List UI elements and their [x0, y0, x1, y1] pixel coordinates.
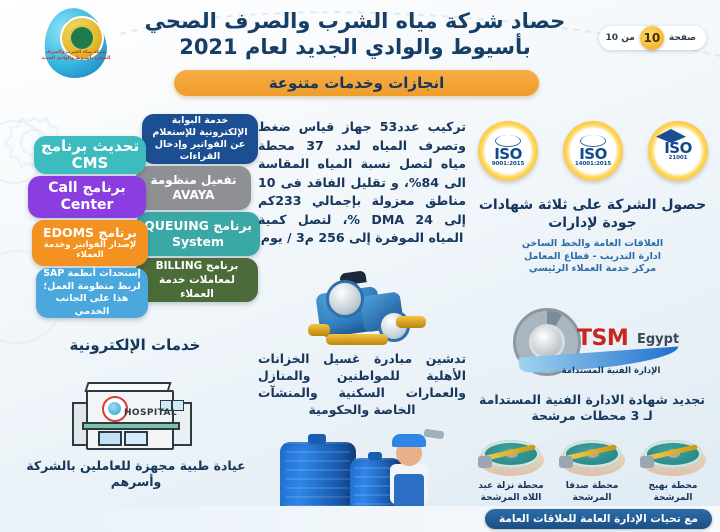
- service-bubble-call-center: برنامج Call Center: [28, 176, 146, 218]
- tank-washing-text: تدشين مبادرة غسيل الخزانات الأهلية للموا…: [258, 350, 466, 418]
- globe-icon-top: [580, 135, 606, 147]
- iso-badge-21001: ISO 21001: [648, 121, 708, 181]
- squeegee-blade: [424, 429, 445, 440]
- page-number-badge: صفحة 10 من 10: [599, 26, 706, 50]
- clinic-illustration: HOSPITAL: [72, 368, 200, 452]
- clarifier-tank-icon: [640, 436, 706, 478]
- meter-dial-large: [326, 280, 364, 318]
- certifications-departments: العلاقات العامة والخط الساخن ادارة التدر…: [475, 238, 710, 276]
- water-meters-text: تركيب عدد53 جهاز قياس ضغط وتصرف المياه ل…: [258, 118, 466, 248]
- clinic-caption: عيادة طبية مجهزة للعاملين بالشركة وأسرهم: [14, 458, 258, 490]
- iso-number: 21001: [669, 155, 688, 161]
- iso-word: ISO: [664, 141, 692, 155]
- clarifier-motor: [640, 456, 654, 468]
- logo-caption: شركة مياه الشرب والصرف الصحي بأسيوط والو…: [38, 50, 114, 62]
- service-bubble-portal: خدمة البوابة الإلكترونية للإستعلام عن ال…: [142, 114, 258, 164]
- page-label: صفحة: [669, 33, 696, 43]
- iso-badge-9001: ISO 9001:2015: [478, 121, 538, 181]
- title-line-1: حصاد شركة مياه الشرب والصرف الصحي: [120, 8, 590, 34]
- edoms-subtitle: لإصدار الفواتير وخدمة العملاء: [38, 240, 142, 260]
- service-bubble-billing: برنامج BILLING لمعاملات خدمة العملاء: [136, 258, 258, 302]
- meter-brass-pipe-right: [396, 316, 426, 328]
- service-bubble-cms: تحديث برنامج CMS: [34, 136, 146, 174]
- station-label-line1: محطة بهيج: [636, 481, 710, 493]
- certification-dept-3: مركز خدمة العملاء الرئيسي: [475, 263, 710, 276]
- footer-credit-badge: مع تحيات الإدارة العامة للعلاقات العامة: [485, 509, 712, 529]
- electronic-services-bubbles: خدمة البوابة الإلكترونية للإستعلام عن ال…: [10, 112, 260, 332]
- iso-number: 14001:2015: [575, 161, 611, 167]
- page-footer: مع تحيات الإدارة العامة للعلاقات العامة: [0, 506, 720, 532]
- certification-dept-1: العلاقات العامة والخط الساخن: [475, 238, 710, 251]
- title-line-2: بأسيوط والوادي الجديد لعام 2021: [120, 34, 590, 60]
- tsm-egypt-text: Egypt: [637, 332, 679, 347]
- iso-number: 9001:2015: [492, 161, 524, 167]
- station-label-line1: محطة صدفا: [555, 481, 629, 493]
- page-current-number: 10: [640, 26, 664, 50]
- meter-brass-pipe-left: [308, 324, 330, 336]
- tsm-brand-text: TSM: [577, 326, 628, 351]
- page-title: حصاد شركة مياه الشرب والصرف الصحي بأسيوط…: [120, 8, 590, 60]
- station-label: محطة بهيج المرشحة: [636, 481, 710, 504]
- service-bubble-sap: إستحداث أنظمة SAP لربط منظومة العمل؛ هذا…: [36, 268, 148, 318]
- station-label-line2: المرشحة: [636, 493, 710, 505]
- service-bubble-edoms: برنامج EDOMS لإصدار الفواتير وخدمة العمل…: [32, 220, 148, 266]
- worker-cap: [392, 434, 426, 447]
- company-logo: شركة مياه الشرب والصرف الصحي بأسيوط والو…: [36, 6, 116, 84]
- water-tank-small-lid: [368, 452, 382, 460]
- page-header: شركة مياه الشرب والصرف الصحي بأسيوط والو…: [0, 0, 720, 96]
- tsm-caption: تجديد شهادة الادارة الفنية المستدامة لـ …: [476, 392, 708, 424]
- clarifier-motor: [478, 456, 492, 468]
- subtitle-banner: انجازات وخدمات متنوعة: [174, 70, 539, 96]
- electronic-services-caption: خدمات الإلكترونية: [20, 336, 250, 354]
- hospital-sign-text: HOSPITAL: [124, 408, 177, 418]
- tsm-arabic-text: الإدارة الفنية المستدامة: [531, 366, 691, 376]
- iso-word: ISO: [494, 147, 522, 161]
- service-bubble-avaya: تفعيل منظومة AVAYA: [136, 166, 251, 210]
- edoms-title: برنامج EDOMS: [43, 226, 137, 240]
- certifications-caption: حصول الشركة على ثلاثة شهادات جودة لإدارا…: [475, 196, 710, 232]
- clinic-awning: [82, 422, 180, 430]
- globe-icon-top: [495, 135, 521, 147]
- service-bubble-queuing: برنامج QUEUING System: [136, 212, 260, 256]
- water-meter-illustration: [300, 272, 436, 358]
- station-label: محطة صدفا المرشحة: [555, 481, 629, 504]
- iso-word: ISO: [579, 147, 607, 161]
- page-total-label: من 10: [606, 33, 635, 43]
- clarifier-motor: [559, 456, 573, 468]
- iso-badges-row: ISO 21001 ISO 14001:2015 ISO 9001:2015: [478, 120, 708, 182]
- station-label-line2: اللاه المرشحة: [474, 493, 548, 505]
- meter-brass-pipe-bottom: [326, 334, 388, 345]
- iso-badge-14001: ISO 14001:2015: [563, 121, 623, 181]
- certification-dept-2: ادارة التدريب - قطاع المعامل: [475, 251, 710, 264]
- clinic-door-left: [98, 431, 122, 446]
- clarifier-tank-icon: [478, 436, 544, 478]
- station-label-line2: المرشحة: [555, 493, 629, 505]
- water-tank-large-lid: [308, 434, 326, 444]
- tsm-egypt-logo: TSM Egypt الإدارة الفنية المستدامة: [485, 306, 700, 382]
- station-label-line1: محطة نزلة عبد: [474, 481, 548, 493]
- iso-badge-14001-inner: ISO 14001:2015: [570, 128, 616, 174]
- station-label: محطة نزلة عبد اللاه المرشحة: [474, 481, 548, 504]
- iso-badge-9001-inner: ISO 9001:2015: [485, 128, 531, 174]
- clarifier-tank-icon: [559, 436, 625, 478]
- clinic-door-right: [124, 431, 148, 446]
- squeegee-handle: [426, 436, 440, 488]
